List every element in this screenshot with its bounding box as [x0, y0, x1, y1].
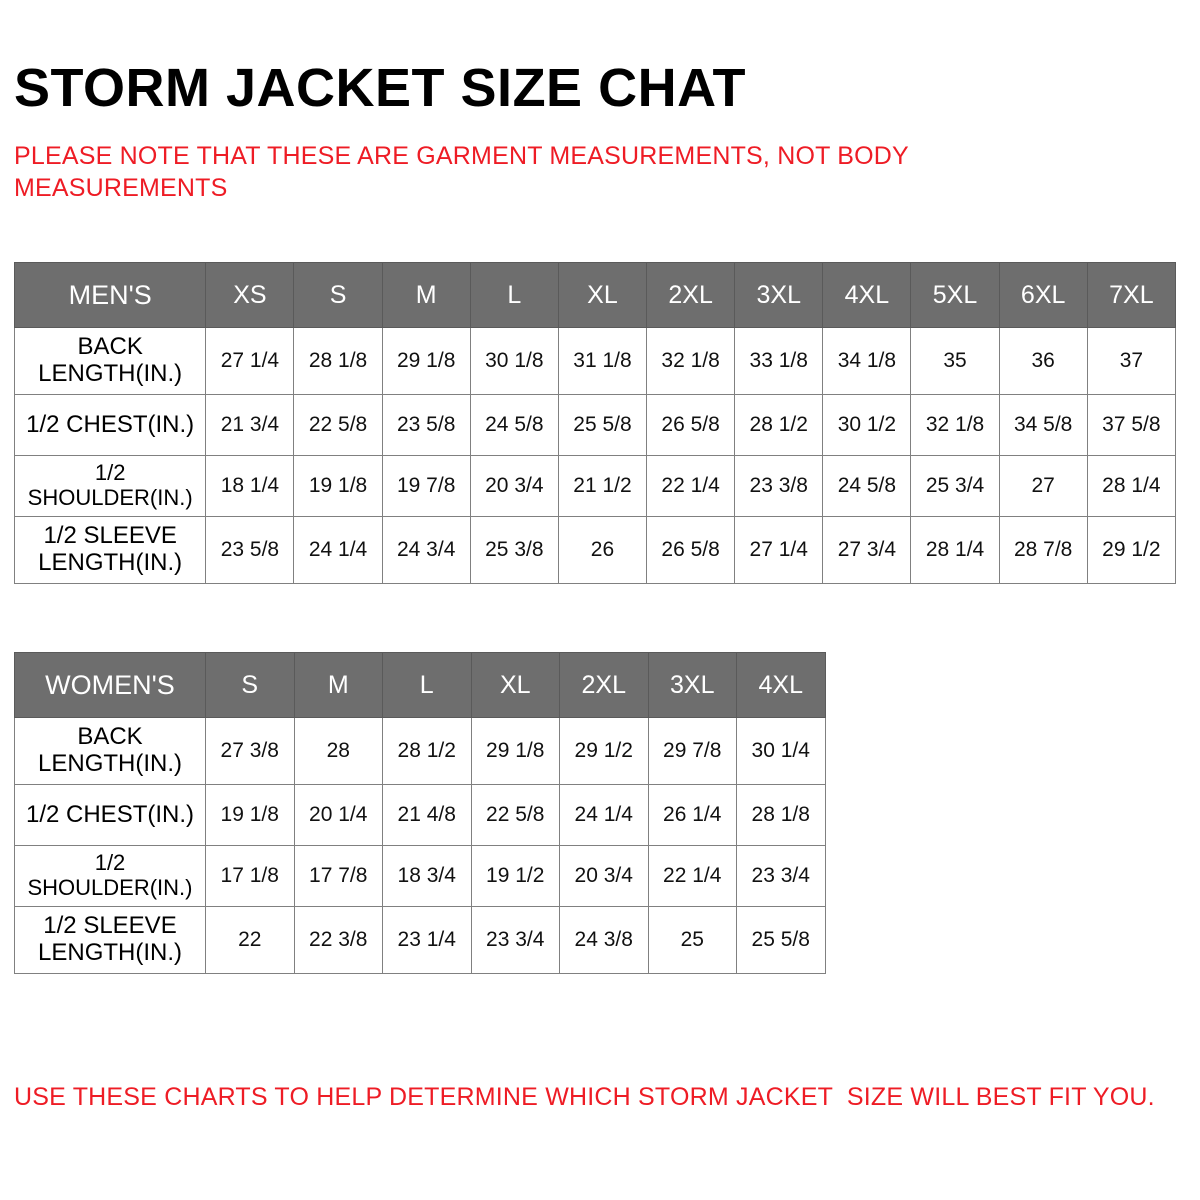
cell: 22 5/8 — [471, 785, 560, 846]
table-row: 1/2 SLEEVE LENGTH(IN.) 23 5/8 24 1/4 24 … — [15, 517, 1176, 584]
mens-col-l: L — [470, 263, 558, 328]
cell: 24 1/4 — [294, 517, 382, 584]
cell: 17 1/8 — [206, 846, 295, 907]
cell: 23 1/4 — [383, 907, 472, 974]
cell: 21 4/8 — [383, 785, 472, 846]
womens-row-label-half-shoulder: 1/2 SHOULDER(IN.) — [15, 846, 206, 907]
mens-table-body: BACK LENGTH(IN.) 27 1/4 28 1/8 29 1/8 30… — [15, 328, 1176, 584]
label-line: 1/2 SLEEVE — [43, 912, 176, 939]
cell: 28 1/4 — [1087, 456, 1175, 517]
womens-row-label-back-length: BACK LENGTH(IN.) — [15, 718, 206, 785]
cell: 27 — [999, 456, 1087, 517]
cell: 26 1/4 — [648, 785, 737, 846]
cell: 23 5/8 — [206, 517, 294, 584]
table-row: 1/2 CHEST(IN.) 21 3/4 22 5/8 23 5/8 24 5… — [15, 395, 1176, 456]
mens-row-label-half-chest: 1/2 CHEST(IN.) — [15, 395, 206, 456]
cell: 25 3/4 — [911, 456, 999, 517]
womens-col-s: S — [206, 653, 295, 718]
womens-col-m: M — [294, 653, 383, 718]
womens-col-2xl: 2XL — [560, 653, 649, 718]
mens-col-3xl: 3XL — [735, 263, 823, 328]
womens-header-row: WOMEN'S S M L XL 2XL 3XL 4XL — [15, 653, 826, 718]
cell: 17 7/8 — [294, 846, 383, 907]
cell: 26 — [558, 517, 646, 584]
cell: 29 1/8 — [382, 328, 470, 395]
table-row: BACK LENGTH(IN.) 27 1/4 28 1/8 29 1/8 30… — [15, 328, 1176, 395]
footer-help-note: USE THESE CHARTS TO HELP DETERMINE WHICH… — [14, 1083, 1174, 1112]
cell: 35 — [911, 328, 999, 395]
cell: 19 1/8 — [206, 785, 295, 846]
cell: 27 3/8 — [206, 718, 295, 785]
cell: 29 1/2 — [560, 718, 649, 785]
label-line: LENGTH(IN.) — [38, 549, 182, 576]
mens-col-4xl: 4XL — [823, 263, 911, 328]
cell: 24 3/8 — [560, 907, 649, 974]
cell: 27 1/4 — [735, 517, 823, 584]
womens-col-3xl: 3XL — [648, 653, 737, 718]
cell: 20 3/4 — [560, 846, 649, 907]
cell: 18 1/4 — [206, 456, 294, 517]
cell: 23 3/4 — [737, 846, 826, 907]
mens-col-7xl: 7XL — [1087, 263, 1175, 328]
mens-col-m: M — [382, 263, 470, 328]
cell: 20 3/4 — [470, 456, 558, 517]
cell: 18 3/4 — [383, 846, 472, 907]
mens-row-label-back-length: BACK LENGTH(IN.) — [15, 328, 206, 395]
cell: 21 1/2 — [558, 456, 646, 517]
cell: 25 5/8 — [558, 395, 646, 456]
mens-table-header: MEN'S XS S M L XL 2XL 3XL 4XL 5XL 6XL 7X… — [15, 263, 1176, 328]
cell: 28 7/8 — [999, 517, 1087, 584]
label-line: LENGTH(IN.) — [38, 939, 182, 966]
cell: 19 1/8 — [294, 456, 382, 517]
womens-corner-label: WOMEN'S — [15, 653, 206, 718]
table-row: 1/2 SHOULDER(IN.) 17 1/8 17 7/8 18 3/4 1… — [15, 846, 826, 907]
cell: 19 1/2 — [471, 846, 560, 907]
mens-col-xl: XL — [558, 263, 646, 328]
womens-col-4xl: 4XL — [737, 653, 826, 718]
cell: 28 1/8 — [737, 785, 826, 846]
cell: 23 3/8 — [735, 456, 823, 517]
cell: 28 1/2 — [383, 718, 472, 785]
cell: 36 — [999, 328, 1087, 395]
womens-col-xl: XL — [471, 653, 560, 718]
mens-row-label-half-sleeve-length: 1/2 SLEEVE LENGTH(IN.) — [15, 517, 206, 584]
label-line: 1/2 SLEEVE — [43, 522, 176, 549]
cell: 32 1/8 — [647, 328, 735, 395]
cell: 34 1/8 — [823, 328, 911, 395]
cell: 20 1/4 — [294, 785, 383, 846]
table-row: BACK LENGTH(IN.) 27 3/8 28 28 1/2 29 1/8… — [15, 718, 826, 785]
womens-table-body: BACK LENGTH(IN.) 27 3/8 28 28 1/2 29 1/8… — [15, 718, 826, 974]
womens-col-l: L — [383, 653, 472, 718]
cell: 29 1/2 — [1087, 517, 1175, 584]
cell: 30 1/4 — [737, 718, 826, 785]
cell: 37 — [1087, 328, 1175, 395]
cell: 28 1/4 — [911, 517, 999, 584]
mens-corner-label: MEN'S — [15, 263, 206, 328]
cell: 22 5/8 — [294, 395, 382, 456]
cell: 29 7/8 — [648, 718, 737, 785]
cell: 25 — [648, 907, 737, 974]
cell: 25 3/8 — [470, 517, 558, 584]
cell: 19 7/8 — [382, 456, 470, 517]
mens-col-6xl: 6XL — [999, 263, 1087, 328]
cell: 25 5/8 — [737, 907, 826, 974]
label-line: BACK — [77, 723, 142, 750]
cell: 28 1/2 — [735, 395, 823, 456]
label-line: LENGTH(IN.) — [38, 360, 182, 387]
cell: 22 — [206, 907, 295, 974]
womens-row-label-half-chest: 1/2 CHEST(IN.) — [15, 785, 206, 846]
label-line: LENGTH(IN.) — [38, 750, 182, 777]
cell: 24 5/8 — [470, 395, 558, 456]
womens-row-label-half-sleeve-length: 1/2 SLEEVE LENGTH(IN.) — [15, 907, 206, 974]
womens-table-header: WOMEN'S S M L XL 2XL 3XL 4XL — [15, 653, 826, 718]
table-row: 1/2 CHEST(IN.) 19 1/8 20 1/4 21 4/8 22 5… — [15, 785, 826, 846]
size-chart-page: STORM JACKET SIZE CHAT PLEASE NOTE THAT … — [0, 0, 1200, 1200]
mens-col-5xl: 5XL — [911, 263, 999, 328]
cell: 28 — [294, 718, 383, 785]
cell: 23 3/4 — [471, 907, 560, 974]
cell: 26 5/8 — [647, 395, 735, 456]
cell: 24 3/4 — [382, 517, 470, 584]
label-line: BACK — [77, 333, 142, 360]
cell: 30 1/2 — [823, 395, 911, 456]
cell: 34 5/8 — [999, 395, 1087, 456]
cell: 23 5/8 — [382, 395, 470, 456]
cell: 21 3/4 — [206, 395, 294, 456]
cell: 24 5/8 — [823, 456, 911, 517]
page-title: STORM JACKET SIZE CHAT — [14, 60, 746, 117]
womens-size-table: WOMEN'S S M L XL 2XL 3XL 4XL BACK LENGTH… — [14, 652, 826, 974]
table-row: 1/2 SLEEVE LENGTH(IN.) 22 22 3/8 23 1/4 … — [15, 907, 826, 974]
cell: 30 1/8 — [470, 328, 558, 395]
mens-col-xs: XS — [206, 263, 294, 328]
cell: 31 1/8 — [558, 328, 646, 395]
mens-col-s: S — [294, 263, 382, 328]
cell: 29 1/8 — [471, 718, 560, 785]
cell: 24 1/4 — [560, 785, 649, 846]
cell: 26 5/8 — [647, 517, 735, 584]
mens-row-label-half-shoulder: 1/2 SHOULDER(IN.) — [15, 456, 206, 517]
cell: 28 1/8 — [294, 328, 382, 395]
cell: 27 1/4 — [206, 328, 294, 395]
cell: 22 1/4 — [648, 846, 737, 907]
cell: 22 1/4 — [647, 456, 735, 517]
cell: 33 1/8 — [735, 328, 823, 395]
cell: 32 1/8 — [911, 395, 999, 456]
mens-col-2xl: 2XL — [647, 263, 735, 328]
cell: 22 3/8 — [294, 907, 383, 974]
mens-header-row: MEN'S XS S M L XL 2XL 3XL 4XL 5XL 6XL 7X… — [15, 263, 1176, 328]
garment-measurement-note: PLEASE NOTE THAT THESE ARE GARMENT MEASU… — [14, 140, 1064, 204]
cell: 27 3/4 — [823, 517, 911, 584]
cell: 37 5/8 — [1087, 395, 1175, 456]
table-row: 1/2 SHOULDER(IN.) 18 1/4 19 1/8 19 7/8 2… — [15, 456, 1176, 517]
mens-size-table: MEN'S XS S M L XL 2XL 3XL 4XL 5XL 6XL 7X… — [14, 262, 1176, 584]
